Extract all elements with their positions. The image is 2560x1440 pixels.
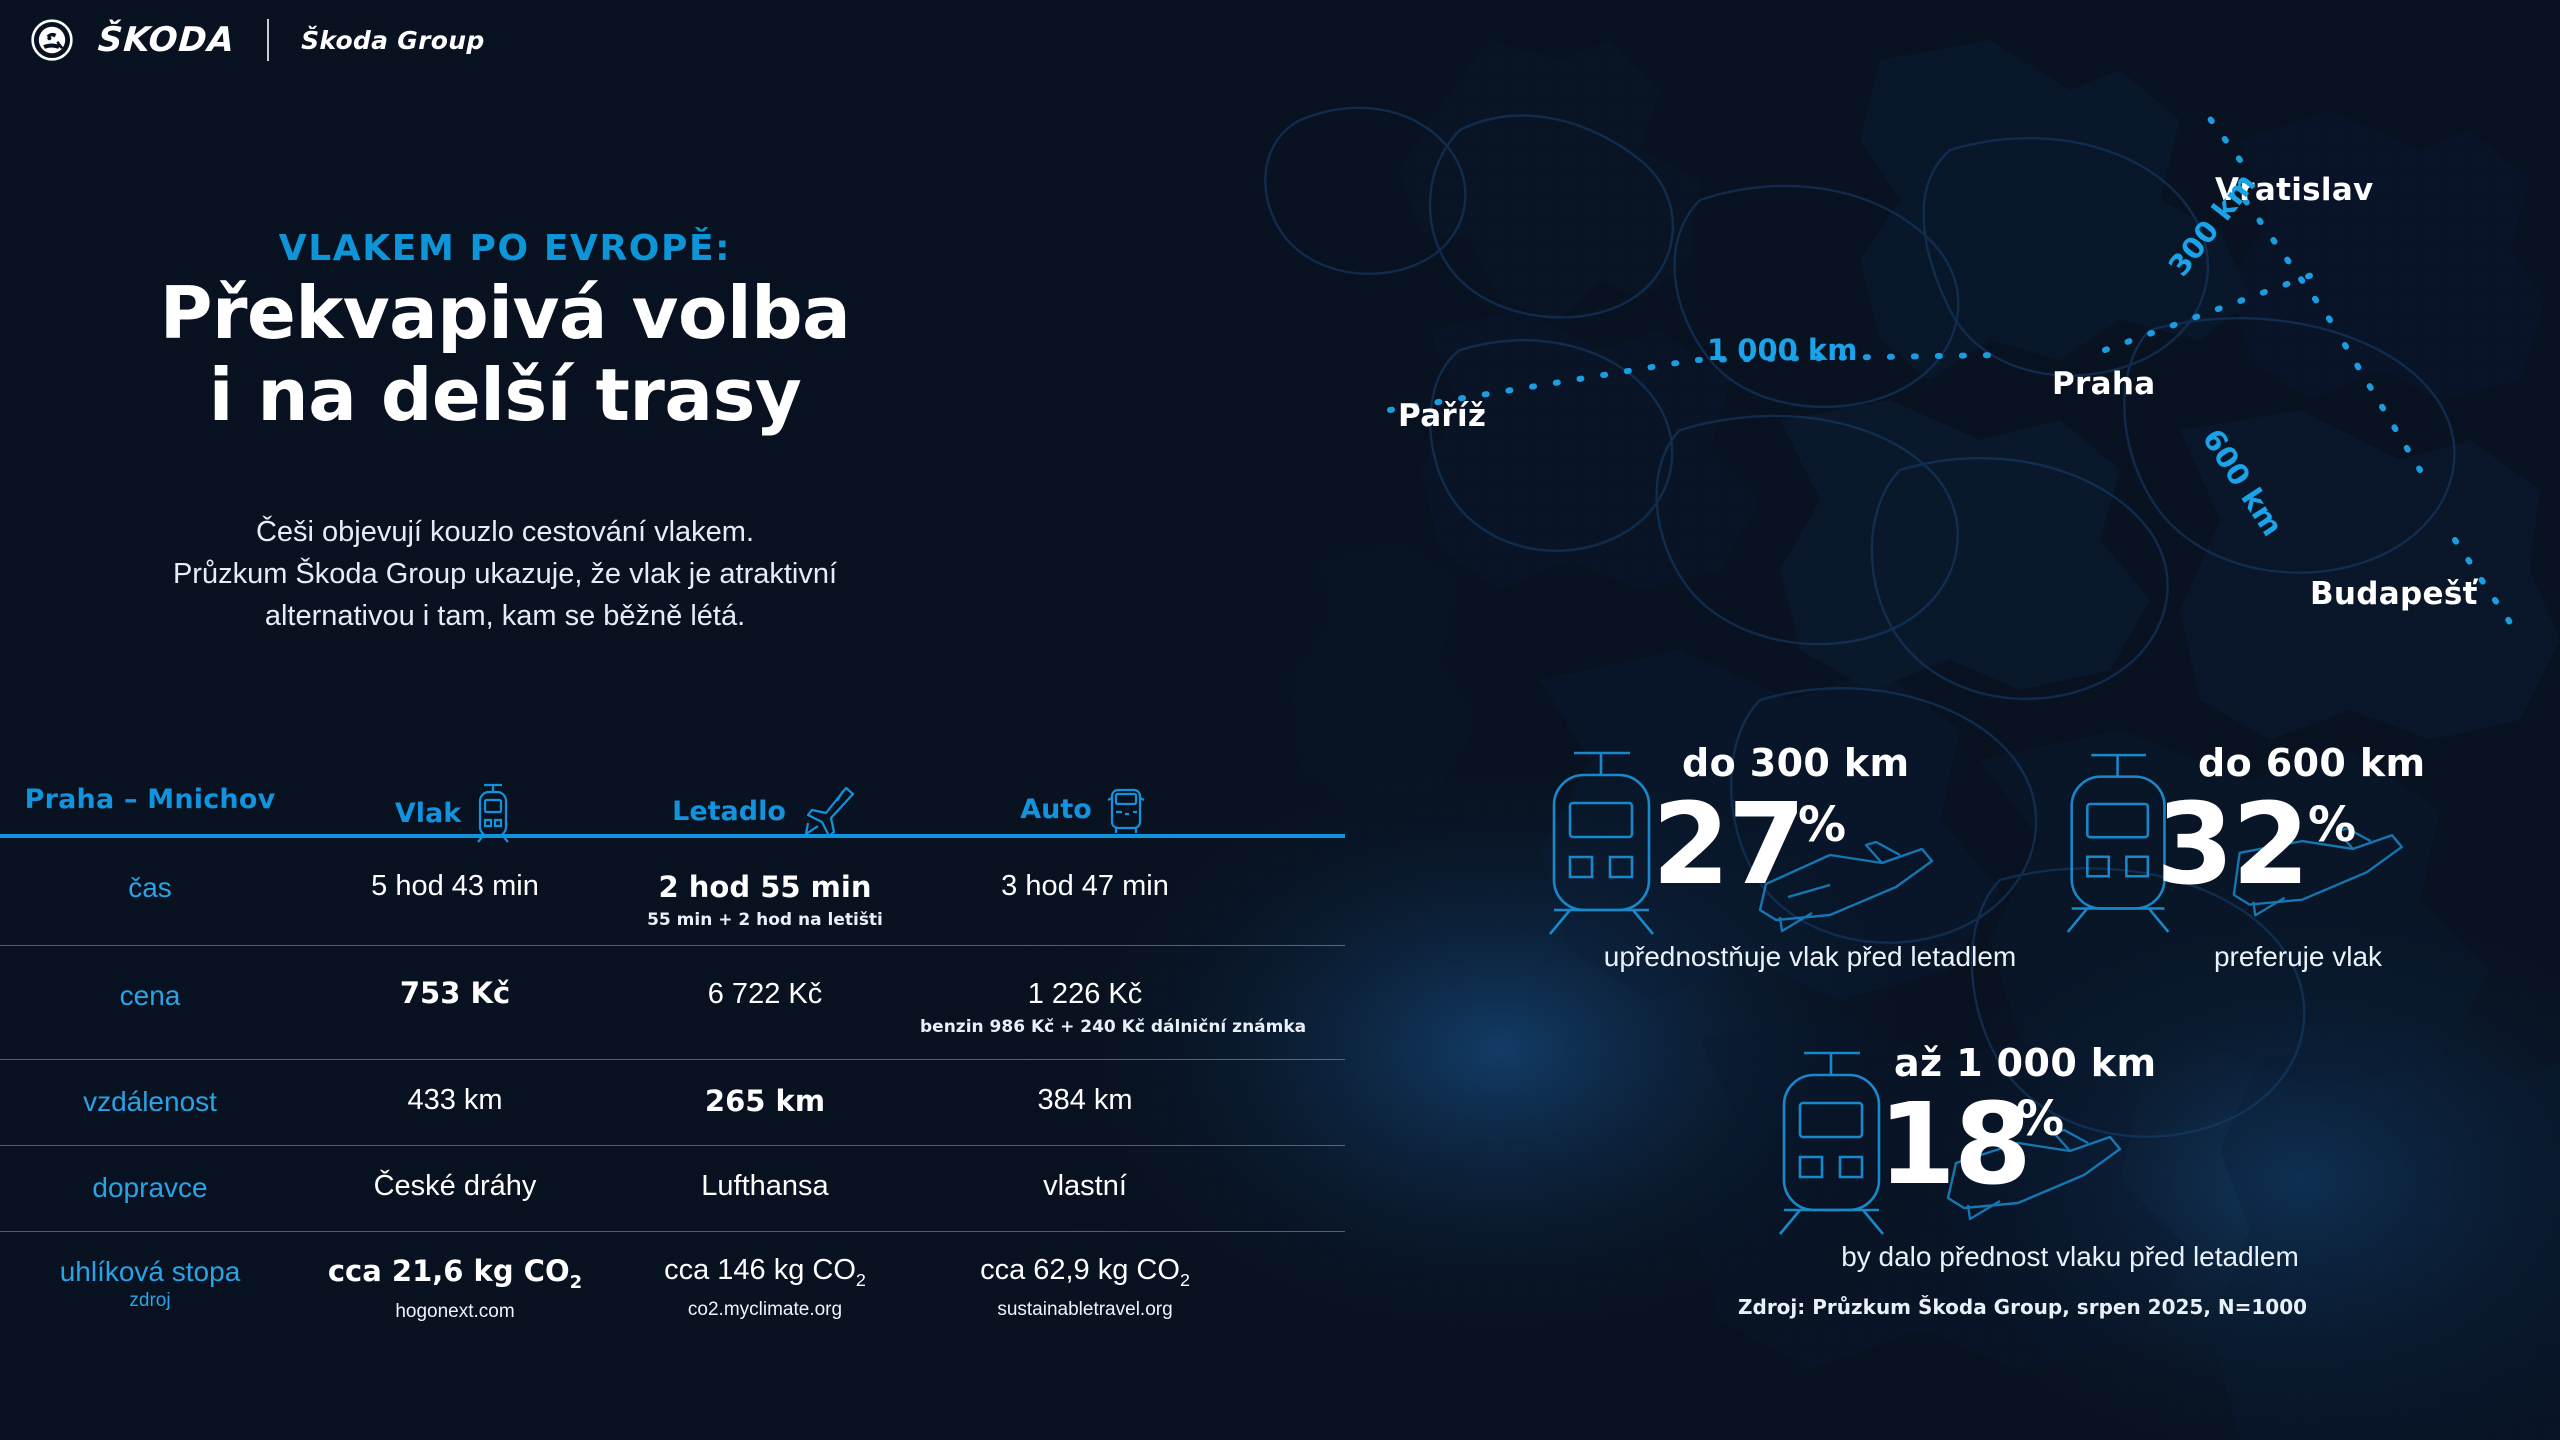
- table-col-plane: Letadlo: [610, 782, 920, 840]
- intro-line-3: alternativou i tam, kam se běžně létá.: [0, 596, 1010, 638]
- stat-caption: preferuje vlak: [2018, 941, 2560, 973]
- title-line-1: Překvapivá volba: [160, 271, 851, 355]
- stat-block-600km: do 600 km 32 % preferuje vlak: [2058, 745, 2560, 995]
- stat-value: 18: [1878, 1089, 2030, 1201]
- city-label-praha: Praha: [2052, 366, 2155, 402]
- intro-paragraph: Češi objevují kouzlo cestování vlakem. P…: [0, 512, 1010, 637]
- row-label: uhlíková stopa: [60, 1256, 241, 1287]
- cell-value-car: 3 hod 47 min: [1001, 870, 1169, 902]
- eyebrow-text: VLAKEM PO EVROPĚ:: [0, 228, 1010, 269]
- page-title: Překvapivá volba i na delší trasy: [0, 272, 1010, 436]
- cell-value-train: 753 Kč: [400, 976, 510, 1010]
- stat-caption: by dalo přednost vlaku před letadlem: [1650, 1241, 2490, 1273]
- co2-subscript: 2: [1180, 1270, 1190, 1290]
- train-icon: [471, 782, 515, 844]
- table-row: uhlíková stopa zdroj cca 21,6 kg CO2 hog…: [0, 1232, 1345, 1342]
- row-label: dopravce: [92, 1172, 207, 1203]
- table-col-train: Vlak: [300, 782, 610, 844]
- cell-value-plane: 6 722 Kč: [708, 978, 822, 1010]
- cell-value-car: 1 226 Kč: [1028, 978, 1142, 1010]
- airplane-icon: [796, 782, 858, 840]
- table-col-plane-label: Letadlo: [672, 796, 786, 827]
- stat-block-1000km: až 1 000 km 18 % by dalo přednost vlaku …: [1760, 1045, 2380, 1295]
- stat-range-label: do 600 km: [2198, 741, 2426, 785]
- intro-line-1: Češi objevují kouzlo cestování vlakem.: [0, 512, 1010, 554]
- cell-value-plane: Lufthansa: [701, 1170, 828, 1202]
- table-col-car: Auto: [920, 782, 1250, 836]
- cell-value-car: vlastní: [1043, 1170, 1127, 1202]
- co2-subscript: 2: [856, 1270, 866, 1290]
- cell-value-train: cca 21,6 kg CO2: [328, 1254, 582, 1288]
- table-row: cena 753 Kč 6 722 Kč 1 226 Kč benzin 986…: [0, 946, 1345, 1060]
- cell-source-plane: co2.myclimate.org: [610, 1299, 920, 1321]
- table-row: vzdálenost 433 km 265 km 384 km: [0, 1060, 1345, 1146]
- row-label: cena: [120, 980, 181, 1011]
- stat-range-label: do 300 km: [1682, 741, 1910, 785]
- cell-value-car: 384 km: [1037, 1084, 1132, 1116]
- row-sub-label: zdroj: [0, 1290, 300, 1312]
- cell-value-car: cca 62,9 kg CO2: [980, 1254, 1190, 1286]
- row-label: vzdálenost: [83, 1086, 217, 1117]
- cell-source-train: hogonext.com: [300, 1301, 610, 1323]
- cell-note-plane: 55 min + 2 hod na letišti: [610, 910, 920, 930]
- stat-value: 27: [1652, 789, 1804, 901]
- table-header-row: Praha – Mnichov Vlak: [0, 770, 1345, 834]
- table-col-car-label: Auto: [1020, 794, 1092, 825]
- row-label: čas: [128, 872, 172, 903]
- table-row: dopravce České dráhy Lufthansa vlastní: [0, 1146, 1345, 1232]
- intro-line-2: Průzkum Škoda Group ukazuje, že vlak je …: [0, 554, 1010, 596]
- table-route-label: Praha – Mnichov: [25, 784, 276, 815]
- stat-unit: %: [2016, 1091, 2064, 1147]
- car-icon: [1102, 782, 1150, 836]
- stat-unit: %: [2308, 797, 2356, 853]
- cell-note-car: benzin 986 Kč + 240 Kč dálniční známka: [920, 1017, 1250, 1037]
- cell-value-train: 433 km: [407, 1084, 502, 1116]
- cell-value-train: 5 hod 43 min: [371, 870, 539, 902]
- survey-source-note: Zdroj: Průzkum Škoda Group, srpen 2025, …: [1738, 1295, 2307, 1319]
- distance-label-1000km: 1 000 km: [1707, 333, 1857, 367]
- cell-source-car: sustainabletravel.org: [920, 1299, 1250, 1321]
- left-column: VLAKEM PO EVROPĚ: Překvapivá volba i na …: [0, 0, 1340, 1440]
- table-col-train-label: Vlak: [395, 798, 461, 829]
- stat-range-label: až 1 000 km: [1894, 1041, 2156, 1085]
- table-row: čas 5 hod 43 min 2 hod 55 min 55 min + 2…: [0, 838, 1345, 946]
- title-line-2: i na delší trasy: [0, 354, 1010, 436]
- co2-subscript: 2: [570, 1272, 583, 1293]
- cell-value-train: České dráhy: [374, 1170, 537, 1202]
- cell-value-plane: 2 hod 55 min: [659, 870, 872, 904]
- stat-value: 32: [2156, 789, 2308, 901]
- stat-block-300km: do 300 km 27 % upřednostňuje vlak před l…: [1530, 745, 2090, 995]
- comparison-table: Praha – Mnichov Vlak: [0, 770, 1345, 1342]
- city-label-budapest: Budapešť: [2310, 576, 2478, 612]
- city-label-pariz: Paříž: [1398, 398, 1486, 434]
- stat-unit: %: [1798, 797, 1846, 853]
- cell-value-plane: cca 146 kg CO2: [664, 1254, 866, 1286]
- cell-value-plane: 265 km: [705, 1084, 825, 1118]
